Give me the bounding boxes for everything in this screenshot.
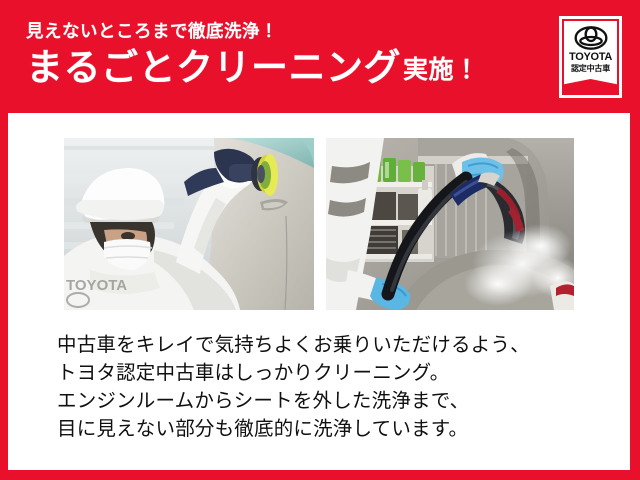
- headline-block: 見えないところまで徹底洗浄！ まるごとクリーニング 実施！: [26, 21, 526, 88]
- badge-notch-shape: [562, 79, 619, 94]
- seat-steam-cleaning-illustration: [326, 138, 574, 310]
- cleaning-promo-banner: 見えないところまで徹底洗浄！ まるごとクリーニング 実施！ TOYOTA 認定中…: [0, 0, 640, 480]
- header-kicker: 見えないところまで徹底洗浄！: [26, 21, 526, 41]
- svg-text:TOYOTA: TOYOTA: [66, 277, 127, 294]
- toyota-ellipse-logo-icon: [574, 26, 608, 50]
- body-line: 目に見えない部分も徹底的に洗浄しています。: [57, 415, 602, 443]
- exterior-polishing-illustration: TOYOTA: [64, 138, 314, 310]
- badge-brand-name: TOYOTA: [569, 51, 612, 63]
- badge-inner-frame: TOYOTA 認定中古車: [562, 19, 619, 95]
- content-card: TOYOTA: [8, 113, 630, 470]
- toyota-certified-badge: TOYOTA 認定中古車: [559, 16, 622, 98]
- body-copy: 中古車をキレイで気持ちよくお乗りいただけるよう、 トヨタ認定中古車はしっかりクリ…: [57, 331, 602, 443]
- headline-tail: 実施！: [403, 54, 480, 88]
- banner-header: 見えないところまで徹底洗浄！ まるごとクリーニング 実施！ TOYOTA 認定中…: [0, 0, 640, 113]
- body-line: エンジンルームからシートを外した洗浄まで、: [57, 387, 602, 415]
- badge-sub-label: 認定中古車: [571, 64, 610, 74]
- seat-steam-cleaning-photo: [326, 138, 574, 310]
- exterior-polishing-photo: TOYOTA: [64, 138, 314, 310]
- body-line: 中古車をキレイで気持ちよくお乗りいただけるよう、: [57, 331, 602, 359]
- headline-main: まるごとクリーニング: [26, 48, 401, 88]
- headline-row: まるごとクリーニング 実施！: [26, 48, 526, 88]
- body-line: トヨタ認定中古車はしっかりクリーニング。: [57, 359, 602, 387]
